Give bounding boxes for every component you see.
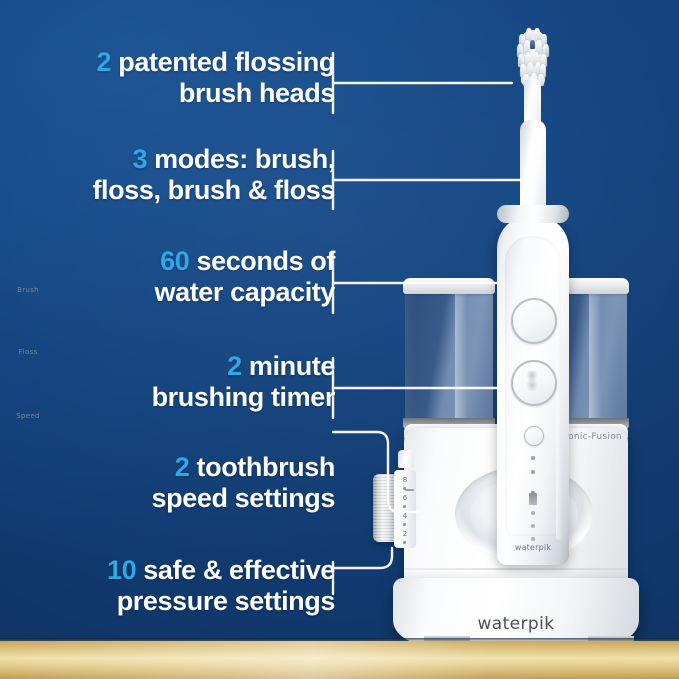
callout-6-text: safe & effective pressure settings [117, 555, 335, 616]
callout-1-text: patented flossing brush heads [111, 47, 335, 108]
callout-5-number: 2 [175, 452, 190, 482]
callout-6-number: 10 [107, 555, 136, 585]
callout-3-number: 60 [160, 246, 189, 276]
callout-2-text: modes: brush, floss, brush & floss [92, 144, 335, 205]
callout-modes: 3 modes: brush, floss, brush & floss [92, 144, 345, 206]
callout-pressure-settings: 10 safe & effective pressure settings [107, 555, 345, 617]
callout-4-number: 2 [227, 351, 242, 381]
callout-water-capacity: 60 seconds of water capacity [155, 246, 346, 308]
callout-brushing-timer: 2 minute brushing timer [152, 351, 345, 413]
callout-4-text: minute brushing timer [152, 351, 335, 412]
connector-5-curve [333, 432, 418, 512]
callout-1-number: 2 [97, 47, 112, 77]
callout-2-number: 3 [132, 144, 147, 174]
callout-list: 2 patented flossing brush heads 3 modes:… [0, 0, 345, 651]
gold-footer-bar [0, 641, 679, 679]
callout-flossing-brush-heads: 2 patented flossing brush heads [97, 47, 345, 109]
callout-speed-settings: 2 toothbrush speed settings [152, 452, 345, 514]
infographic-canvas: Sonic-Fusion 8 6 4 2 Brush Floss Speed [0, 0, 679, 679]
